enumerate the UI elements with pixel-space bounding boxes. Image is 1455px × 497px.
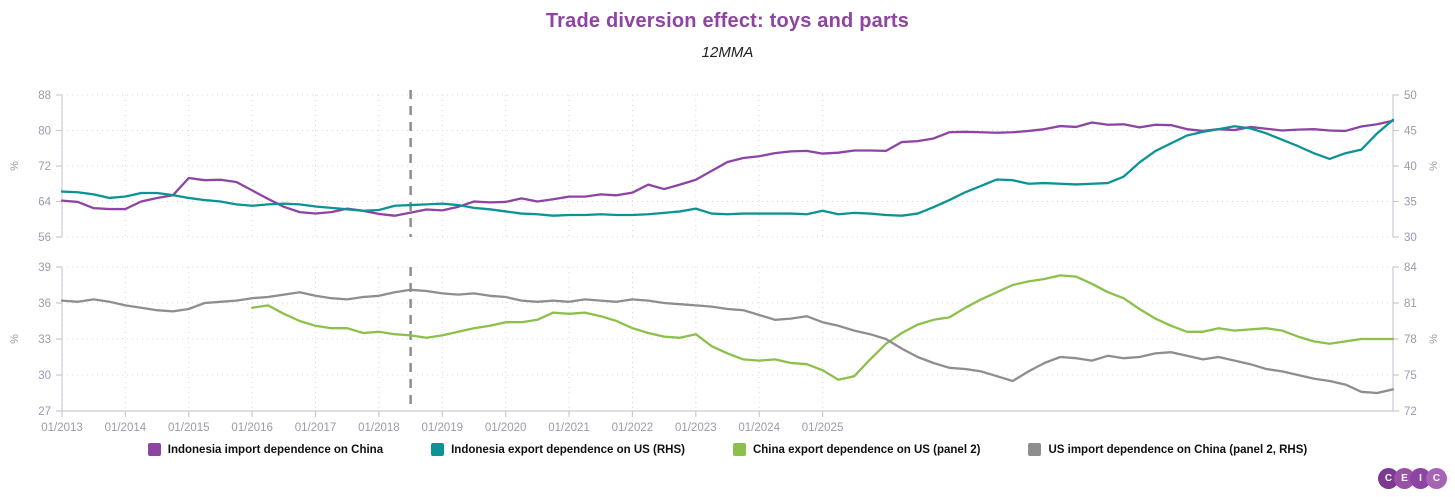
- legend-item-china-export-us[interactable]: China export dependence on US (panel 2): [733, 443, 980, 456]
- axis-tick-label-left: 88: [38, 90, 51, 102]
- legend-item-us-import-china[interactable]: US import dependence on China (panel 2, …: [1028, 443, 1307, 456]
- legend-label: Indonesia export dependence on US (RHS): [451, 444, 685, 456]
- axis-tick-label-x: 01/2025: [802, 422, 844, 434]
- axis-tick-label-left: 56: [38, 232, 51, 244]
- legend-label: US import dependence on China (panel 2, …: [1048, 444, 1307, 456]
- axis-tick-label-right: 50: [1404, 90, 1417, 102]
- axis-tick-label-right: 30: [1404, 232, 1417, 244]
- legend-item-indonesia-import-china[interactable]: Indonesia import dependence on China: [148, 443, 383, 456]
- ceic-watermark-logo: C E I C: [1378, 468, 1447, 489]
- chart-container: Trade diversion effect: toys and parts 1…: [0, 0, 1455, 497]
- axis-tick-label-x: 01/2014: [105, 422, 147, 434]
- axis-tick-label-x: 01/2020: [485, 422, 527, 434]
- axis-tick-label-right: 45: [1404, 126, 1417, 138]
- legend-swatch-grey: [1028, 443, 1041, 456]
- axis-tick-label-right: 81: [1404, 298, 1417, 310]
- ceic-letter-c2: C: [1426, 468, 1447, 489]
- legend-swatch-green: [733, 443, 746, 456]
- legend-label: China export dependence on US (panel 2): [753, 444, 980, 456]
- axis-tick-label-x: 01/2013: [41, 422, 83, 434]
- axis-tick-label-left: 64: [38, 197, 51, 209]
- axis-tick-label-right: 40: [1404, 161, 1417, 173]
- axis-tick-label-left: 27: [38, 406, 51, 418]
- axis-unit-label-left: %: [9, 334, 21, 344]
- chart-plot-area: 88508045724064355630%%398436813378307527…: [0, 0, 1455, 440]
- axis-tick-label-x: 01/2015: [168, 422, 210, 434]
- axis-unit-label-right: %: [1428, 161, 1440, 171]
- axis-tick-label-left: 80: [38, 126, 51, 138]
- axis-tick-label-left: 30: [38, 370, 51, 382]
- axis-tick-label-left: 39: [38, 262, 51, 274]
- legend-label: Indonesia import dependence on China: [168, 444, 383, 456]
- axis-tick-label-x: 01/2024: [738, 422, 780, 434]
- axis-tick-label-right: 78: [1404, 334, 1417, 346]
- legend-swatch-purple: [148, 443, 161, 456]
- chart-legend: Indonesia import dependence on China Ind…: [0, 443, 1455, 456]
- axis-tick-label-x: 01/2023: [675, 422, 717, 434]
- axis-tick-label-x: 01/2021: [548, 422, 590, 434]
- axis-tick-label-right: 72: [1404, 406, 1417, 418]
- legend-swatch-teal: [431, 443, 444, 456]
- axis-tick-label-right: 84: [1404, 262, 1417, 274]
- axis-tick-label-left: 33: [38, 334, 51, 346]
- axis-tick-label-left: 36: [38, 298, 51, 310]
- legend-item-indonesia-export-us[interactable]: Indonesia export dependence on US (RHS): [431, 443, 685, 456]
- axis-unit-label-left: %: [9, 161, 21, 171]
- axis-tick-label-right: 75: [1404, 370, 1417, 382]
- axis-tick-label-left: 72: [38, 161, 51, 173]
- axis-tick-label-x: 01/2019: [421, 422, 463, 434]
- axis-unit-label-right: %: [1428, 334, 1440, 344]
- axis-tick-label-x: 01/2018: [358, 422, 400, 434]
- axis-tick-label-right: 35: [1404, 197, 1417, 209]
- axis-tick-label-x: 01/2017: [295, 422, 337, 434]
- axis-tick-label-x: 01/2022: [612, 422, 654, 434]
- axis-tick-label-x: 01/2016: [231, 422, 273, 434]
